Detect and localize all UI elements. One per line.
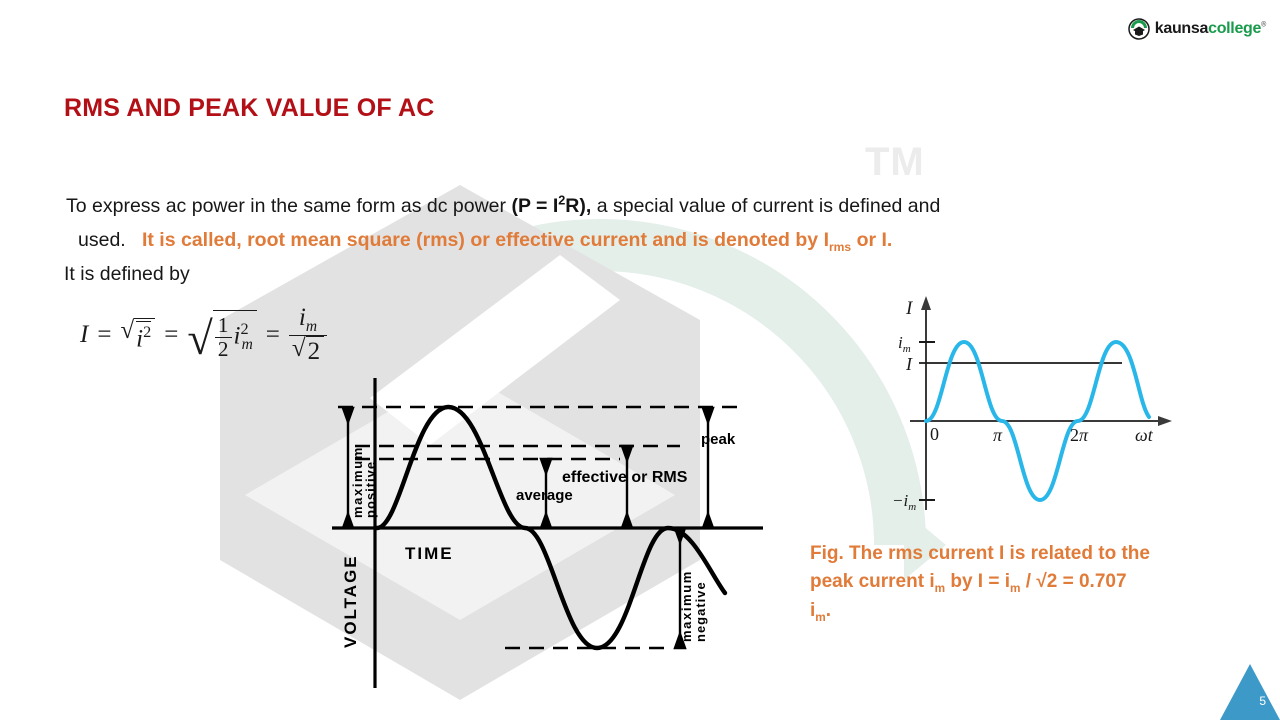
label-average: average (516, 487, 573, 504)
numerator-im-subscript: m (306, 318, 317, 335)
graduation-cap-circle-icon (1128, 18, 1150, 40)
y-axis-label: I (905, 298, 914, 319)
im-subscript: m (242, 336, 253, 353)
intro-paragraph: To express ac power in the same form as … (66, 190, 1196, 257)
equation-equals-2: = (164, 321, 178, 349)
im-over-root2-fraction: im √2 (289, 305, 327, 366)
label-time-axis: TIME (405, 544, 454, 563)
x-axis-label: ωt (1135, 425, 1154, 445)
equation-lhs: I (80, 321, 88, 349)
radical-sign-1: √ (120, 318, 134, 353)
root2-radical: √2 (292, 336, 324, 365)
intro-text-b: a special value of current is defined an… (591, 195, 940, 217)
page-number: 5 (1259, 694, 1266, 708)
fraction-numerator-im: im (296, 305, 320, 335)
watermark-tm-text: TM (865, 140, 925, 185)
rms-subscript: rms (829, 239, 851, 253)
intro-text-used: used. (78, 229, 126, 251)
label-peak: peak (701, 431, 736, 448)
caption-sub-1: m (935, 582, 945, 595)
equation-equals-1: = (97, 321, 111, 349)
rms-equation: I = √ i2 = √ 1 2 i2m = (80, 305, 327, 366)
y-tick-I-rms: I (905, 354, 913, 374)
equation-term-half-im-squared: √ 1 2 i2m (187, 310, 256, 360)
numerator-im-variable: i (299, 304, 306, 331)
ac-voltage-waveform-diagram: maximum positive maximum negative peak e… (320, 378, 770, 693)
rms-definition-text: It is called, root mean square (rms) or … (142, 229, 829, 251)
caption-line-2-pre: peak current i (810, 571, 935, 592)
radical-body-1: i2 (134, 318, 155, 353)
equation-term-mean-square: √ i2 (120, 318, 155, 353)
equation-equals-3: = (266, 321, 280, 349)
brand-name-part1: kaunsa (1155, 20, 1208, 37)
x-tick-pi: π (993, 425, 1003, 445)
rms-definition-tail: or I. (851, 229, 892, 251)
half-fraction-denominator: 2 (215, 337, 232, 361)
defined-by-text: It is defined by (64, 263, 190, 286)
label-maximum-neg: maximum (679, 570, 694, 642)
formula-inline-bold: (P = I2R), (511, 195, 591, 217)
caption-line-1: Fig. The rms current I is related to the (810, 543, 1150, 564)
page-title: RMS AND PEAK VALUE OF AC (64, 94, 435, 123)
label-voltage-axis: VOLTAGE (341, 554, 360, 648)
im-squared-term: i2m (234, 320, 253, 354)
brand-name: kaunsacollege® (1155, 21, 1266, 37)
intro-text-a: To express ac power in the same form as … (66, 195, 511, 217)
figure-caption: Fig. The rms current I is related to the… (810, 540, 1240, 626)
mean-square-exponent: 2 (143, 323, 151, 341)
caption-sub-2: m (1010, 582, 1020, 595)
y-tick-im: im (898, 333, 911, 355)
caption-sub-3: m (815, 611, 825, 624)
caption-line-3-post: . (826, 600, 831, 621)
label-positive: positive (363, 461, 378, 518)
fraction-denominator-root2: √2 (289, 335, 327, 365)
radical-body-3: 2 (306, 336, 325, 365)
brand-trademark: ® (1261, 22, 1266, 29)
radical-sign-3: √ (292, 336, 306, 365)
brand-logo: kaunsacollege® (1128, 18, 1266, 40)
rms-vs-peak-current-chart: I im I −im 0 π 2π ωt (890, 292, 1180, 517)
label-effective-rms: effective or RMS (562, 469, 688, 486)
x-tick-origin: 0 (930, 424, 939, 444)
y-tick-negative-im: −im (892, 491, 916, 513)
formula-inline-end: R), (565, 195, 591, 217)
rms-definition-highlight: It is called, root mean square (rms) or … (142, 229, 892, 251)
radical-body-2: 1 2 i2m (213, 310, 257, 360)
brand-name-part2: college (1208, 20, 1261, 37)
slide-canvas: TM kaunsacollege® RMS AND PEAK VALUE OF … (0, 0, 1280, 720)
page-number-badge (1220, 660, 1280, 720)
radical-sign-2: √ (187, 320, 212, 361)
label-negative: negative (693, 581, 708, 642)
caption-line-2-post: / √2 = 0.707 (1021, 571, 1127, 592)
x-tick-2pi: 2π (1070, 425, 1089, 445)
caption-line-2-mid: by I = i (945, 571, 1010, 592)
formula-inline-start: (P = I (511, 195, 558, 217)
half-fraction: 1 2 (215, 314, 232, 360)
half-fraction-numerator: 1 (215, 314, 232, 337)
